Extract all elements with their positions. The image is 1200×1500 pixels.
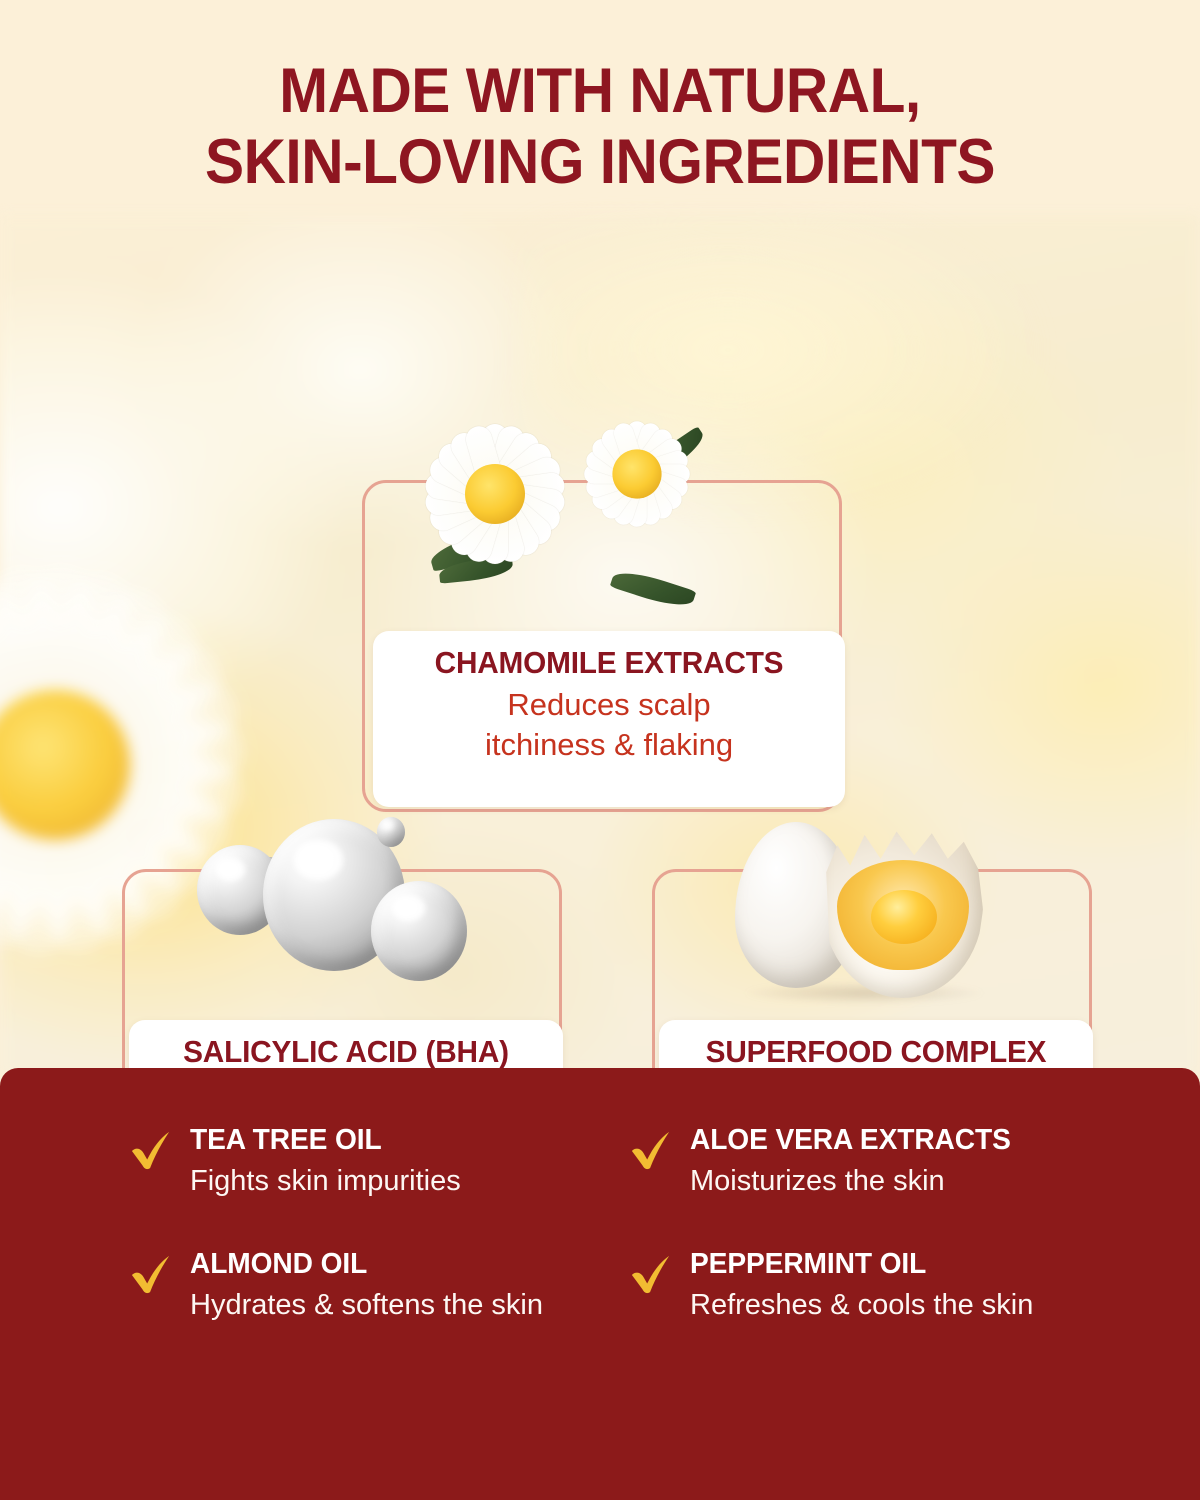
egg-yolk-icon	[871, 890, 937, 944]
benefit-text: ALOE VERA EXTRACTS Moisturizes the skin	[690, 1124, 1021, 1200]
benefit-name: PEPPERMINT OIL	[690, 1248, 1023, 1281]
checkmark-icon	[130, 1128, 172, 1172]
ingredient-card-chamomile: CHAMOMILE EXTRACTS Reduces scalp itchine…	[362, 480, 842, 812]
benefit-item-tea-tree-oil: TEA TREE OIL Fights skin impurities	[130, 1124, 637, 1200]
flower-core-icon	[465, 464, 525, 524]
chamomile-text-panel: CHAMOMILE EXTRACTS Reduces scalp itchine…	[373, 631, 845, 807]
superfood-title: SUPERFOOD COMPLEX	[677, 1034, 1074, 1071]
benefits-band: TEA TREE OIL Fights skin impurities ALOE…	[0, 1068, 1200, 1500]
checkmark-icon	[130, 1252, 172, 1296]
benefit-name: TEA TREE OIL	[190, 1124, 453, 1157]
droplet-icon	[371, 881, 467, 981]
droplet-icon	[377, 817, 405, 847]
benefit-item-almond-oil: ALMOND OIL Hydrates & softens the skin	[130, 1248, 637, 1324]
benefit-text: ALMOND OIL Hydrates & softens the skin	[190, 1248, 543, 1324]
ingredients-infographic: MADE WITH NATURAL, SKIN-LOVING INGREDIEN…	[0, 0, 1200, 1500]
benefit-name: ALOE VERA EXTRACTS	[690, 1124, 1011, 1157]
page-title: MADE WITH NATURAL, SKIN-LOVING INGREDIEN…	[42, 0, 1158, 197]
benefit-name: ALMOND OIL	[190, 1248, 532, 1281]
benefit-text: TEA TREE OIL Fights skin impurities	[190, 1124, 461, 1200]
bha-droplets-icon: BHA	[175, 817, 505, 1047]
benefit-text: PEPPERMINT OIL Refreshes & cools the ski…	[690, 1248, 1033, 1324]
checkmark-icon	[630, 1128, 672, 1172]
benefit-description: Refreshes & cools the skin	[690, 1287, 1033, 1324]
flower-core-icon	[612, 449, 661, 498]
chamomile-flowers-icon	[425, 428, 785, 658]
checkmark-icon	[630, 1252, 672, 1296]
benefit-item-peppermint-oil: PEPPERMINT OIL Refreshes & cools the ski…	[630, 1248, 1144, 1324]
chamomile-title: CHAMOMILE EXTRACTS	[392, 645, 826, 682]
benefit-item-aloe-vera-extracts: ALOE VERA EXTRACTS Moisturizes the skin	[630, 1124, 1144, 1200]
salicylic-title: SALICYLIC ACID (BHA)	[147, 1034, 544, 1071]
benefit-description: Moisturizes the skin	[690, 1163, 1021, 1200]
chamomile-description: Reduces scalp itchiness & flaking	[383, 685, 835, 766]
cracked-egg-icon	[727, 814, 1037, 1049]
benefits-grid: TEA TREE OIL Fights skin impurities ALOE…	[0, 1124, 1200, 1324]
benefit-description: Hydrates & softens the skin	[190, 1287, 543, 1324]
leaf-icon	[610, 566, 697, 613]
benefit-description: Fights skin impurities	[190, 1163, 461, 1200]
